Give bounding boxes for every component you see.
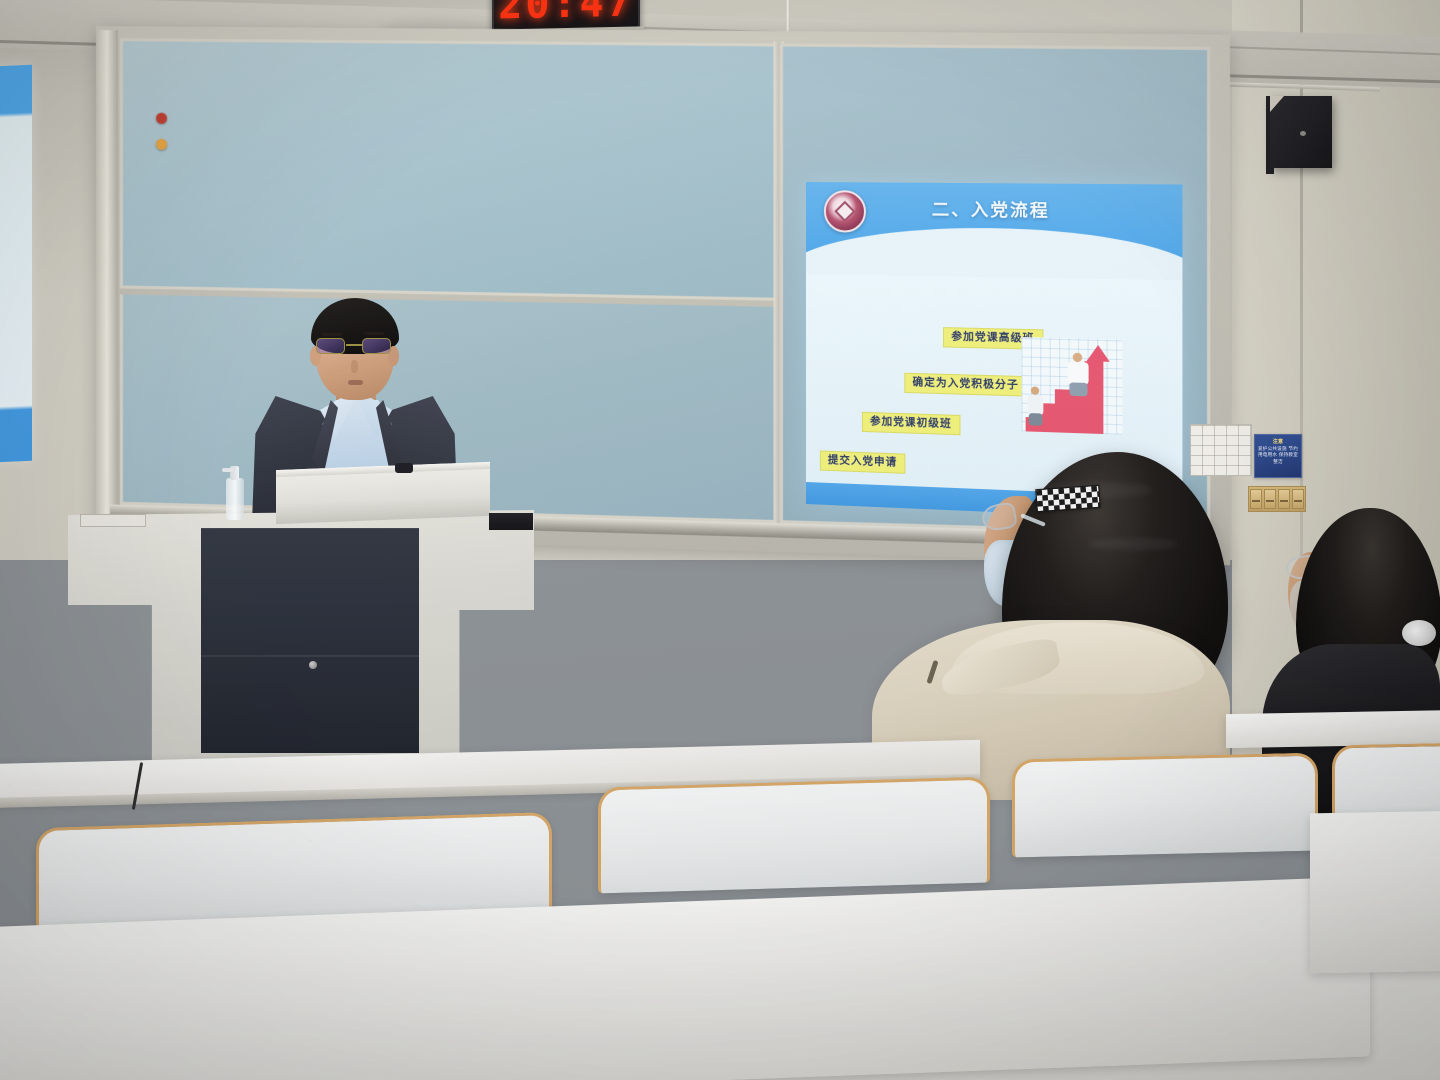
figure-legs <box>1029 413 1043 426</box>
notice-lines: 爱护公共设施 节约用电用水 保持教室整洁 <box>1258 447 1298 466</box>
speaker-led <box>1300 131 1306 136</box>
hair-highlight <box>1088 538 1178 550</box>
wall-power-outlets[interactable] <box>1248 486 1306 512</box>
chair-marking: · <box>309 836 313 845</box>
figure-body <box>1068 362 1089 385</box>
lens-right <box>362 338 391 354</box>
slide-title: 二、入党流程 <box>806 194 1182 223</box>
figure-head <box>1031 386 1039 394</box>
eyebrow-left <box>322 333 342 336</box>
blue-notice-sign: 注意 爱护公共设施 节约用电用水 保持教室整洁 <box>1254 434 1302 478</box>
nose <box>351 360 358 373</box>
lectern-label-left <box>80 514 146 527</box>
eyebrow-right <box>364 332 384 335</box>
eyeglasses-icon <box>316 338 392 355</box>
power-outlet[interactable] <box>1278 489 1290 509</box>
secondary-projection-screen <box>0 65 32 464</box>
seating-chart-sign <box>1190 424 1252 476</box>
board-left-post <box>96 30 118 521</box>
arrow-head <box>1086 345 1109 362</box>
mouth <box>348 380 363 385</box>
power-outlet[interactable] <box>1292 489 1304 509</box>
magnet-red <box>156 113 167 124</box>
board-panel-upper-left <box>120 38 778 301</box>
power-outlet[interactable] <box>1264 489 1276 509</box>
student1-checkered-hair-clip <box>1035 485 1100 512</box>
podium-microphone <box>395 463 413 473</box>
figure-head <box>1073 353 1082 363</box>
clock-time: 20:47 <box>498 0 633 28</box>
lectern-label-right <box>489 513 533 530</box>
hand-sanitizer-bottle <box>226 478 244 520</box>
student2-scrunchie <box>1402 620 1436 646</box>
wall-speaker-icon <box>1270 96 1332 168</box>
staircase-illustration <box>1021 337 1122 435</box>
flow-step-3: 确定为入党积极分子 <box>904 373 1027 396</box>
lectern-lock-knob[interactable] <box>309 661 317 669</box>
figure-legs <box>1070 382 1088 396</box>
lectern-panel-seam <box>201 655 419 657</box>
sanitizer-nozzle <box>222 468 235 472</box>
lens-left <box>316 338 345 354</box>
glasses-bridge <box>346 344 362 346</box>
student-desk-front-right <box>1310 811 1440 974</box>
classroom-photo-scene: 20:47 二、入党流程 参加党课高级班 确定为入党积极分子 参加党课初级班 <box>0 0 1440 1080</box>
notice-heading: 注意 <box>1258 439 1298 445</box>
lectern-front-panel <box>201 528 419 753</box>
magnet-yellow <box>156 139 167 150</box>
student-desk <box>1226 710 1440 748</box>
flow-step-2: 参加党课初级班 <box>862 412 960 435</box>
flow-step-1: 提交入党申请 <box>820 451 905 474</box>
speaker-bevel <box>1270 96 1284 112</box>
power-outlet[interactable] <box>1250 489 1262 509</box>
student-chair[interactable] <box>598 777 990 894</box>
student-chair[interactable] <box>1012 753 1318 858</box>
